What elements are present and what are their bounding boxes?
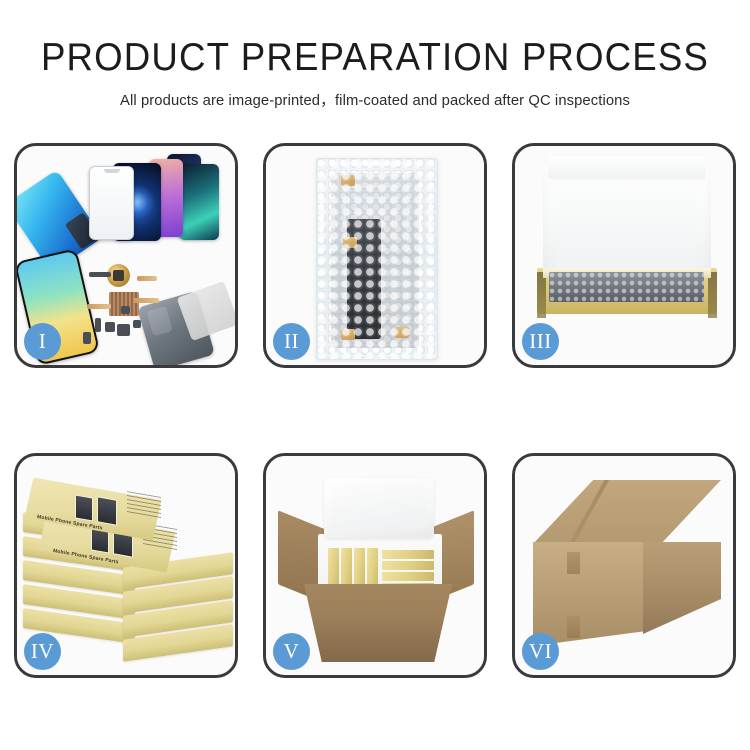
small-part-icon — [83, 332, 91, 344]
small-part-icon — [121, 306, 130, 314]
flex-cable-icon — [133, 298, 159, 303]
phone-screen-white-icon — [89, 166, 134, 240]
small-part-icon — [95, 318, 101, 332]
small-part-icon — [89, 272, 111, 277]
flex-cable-icon — [137, 276, 157, 281]
flex-cable-icon — [87, 304, 111, 309]
small-part-icon — [117, 324, 130, 336]
yellow-box-item — [382, 572, 434, 581]
step-card-v[interactable]: V — [263, 453, 487, 678]
yellow-box-item — [328, 548, 339, 590]
carton-tape-icon — [567, 552, 580, 574]
foam-lid-icon — [543, 159, 711, 279]
small-part-icon — [105, 322, 115, 332]
yellow-box-item — [341, 548, 352, 590]
tape-piece-icon — [395, 327, 409, 338]
carton-front-face — [533, 542, 643, 646]
step-badge-vi: VI — [522, 633, 559, 670]
phone-screen-teal-icon — [179, 164, 219, 240]
yellow-box-item — [354, 548, 365, 590]
carton-top-face — [533, 480, 721, 544]
step-badge-iv: IV — [24, 633, 61, 670]
step-badge-ii: II — [273, 323, 310, 360]
step-card-ii[interactable]: II — [263, 143, 487, 368]
step-card-i[interactable]: I — [14, 143, 238, 368]
box-side-right — [708, 272, 717, 318]
yellow-box-item — [382, 561, 434, 570]
shipping-carton-body-icon — [304, 584, 452, 662]
small-part-icon — [133, 320, 141, 328]
carton-side-face — [643, 542, 721, 634]
box-side-left — [537, 272, 546, 318]
yellow-box-item — [367, 548, 378, 590]
step-card-iv[interactable]: Mobile Phone Spare Parts Mobile Phone Sp… — [14, 453, 238, 678]
tape-piece-icon — [343, 237, 357, 248]
tape-piece-icon — [341, 175, 355, 186]
step-badge-iii: III — [522, 323, 559, 360]
process-steps-grid: I II III — [14, 143, 737, 678]
step-card-vi[interactable]: VI — [512, 453, 736, 678]
step-badge-v: V — [273, 633, 310, 670]
bubble-wrap-bag-icon — [316, 158, 438, 360]
page-title: PRODUCT PREPARATION PROCESS — [23, 0, 728, 79]
bubble-filled-contents-icon — [549, 272, 704, 302]
page-subtitle: All products are image-printed，film-coat… — [6, 79, 745, 110]
tape-piece-icon — [341, 329, 355, 340]
foam-box-lid-icon — [324, 478, 434, 538]
yellow-box-item — [382, 550, 434, 559]
box-window-screen-icon — [97, 496, 117, 526]
step-badge-i: I — [24, 323, 61, 360]
page-header: PRODUCT PREPARATION PROCESS All products… — [0, 0, 750, 110]
carton-tape-icon — [567, 616, 580, 638]
box-window-screen-icon — [75, 494, 93, 521]
step-card-iii[interactable]: III — [512, 143, 736, 368]
